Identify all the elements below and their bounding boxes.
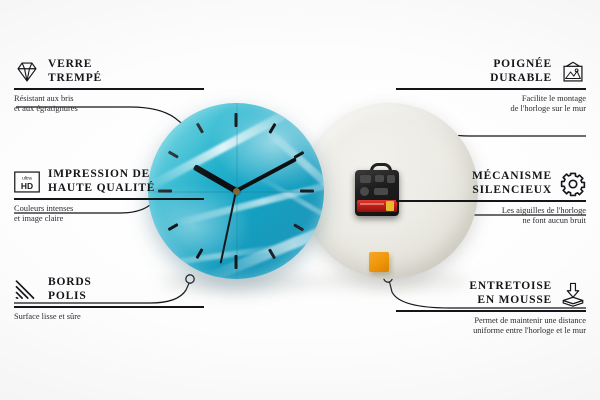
callout-desc-line1: Facilite le montage: [396, 94, 586, 105]
callout-title: DURABLE: [490, 72, 552, 86]
callout-impression-haute-qualite: ultra HD IMPRESSION DE HAUTE QUALITÉ Cou…: [14, 168, 204, 225]
diamond-icon: [14, 59, 40, 85]
callout-rule: [14, 198, 204, 200]
callout-title: MÉCANISME: [472, 170, 552, 184]
ultra-hd-icon: ultra HD: [14, 169, 40, 195]
svg-text:HD: HD: [21, 180, 33, 190]
callout-title: BORDS: [48, 276, 92, 290]
connector-poignee: [410, 113, 586, 136]
callout-desc-line2: uniforme entre l'horloge et le mur: [396, 326, 586, 337]
callout-title: HAUTE QUALITÉ: [48, 182, 155, 196]
callout-title: IMPRESSION DE: [48, 168, 155, 182]
callout-desc-line1: Résistant aux bris: [14, 94, 204, 105]
callout-title: TREMPÉ: [48, 72, 102, 86]
callout-title: POIGNÉE: [490, 58, 552, 72]
callout-desc-line2: et aux égratignures: [14, 104, 204, 115]
anchor-entretoise: [384, 274, 392, 282]
anchor-verre-trempe: [188, 128, 196, 136]
callout-title: ENTRETOISE: [469, 280, 552, 294]
callout-desc-line1: Couleurs intenses: [14, 204, 204, 215]
anchor-poignee: [378, 152, 386, 160]
callout-mecanisme-silencieux: MÉCANISME SILENCIEUX Les aiguilles de l'…: [396, 170, 586, 227]
foam-spacer-icon: [560, 281, 586, 307]
callout-title: SILENCIEUX: [472, 184, 552, 198]
callout-rule: [396, 88, 586, 90]
callout-desc-line2: et image claire: [14, 214, 204, 225]
callout-title: VERRE: [48, 58, 102, 72]
callout-title: POLIS: [48, 290, 92, 304]
product-infographic: VERRE TREMPÉ Résistant aux bris et aux é…: [0, 0, 600, 400]
callout-rule: [14, 88, 204, 90]
callout-desc-line1: Permet de maintenir une distance: [396, 316, 586, 327]
callout-desc-line1: Les aiguilles de l'horloge: [396, 206, 586, 217]
callout-rule: [14, 306, 204, 308]
callout-desc-line2: de l'horloge sur le mur: [396, 104, 586, 115]
callout-bords-polis: BORDS POLIS Surface lisse et sûre: [14, 276, 204, 322]
gear-icon: [560, 171, 586, 197]
callout-rule: [396, 200, 586, 202]
callout-poignee-durable: POIGNÉE DURABLE Facilite le montage de l…: [396, 58, 586, 115]
callout-verre-trempe: VERRE TREMPÉ Résistant aux bris et aux é…: [14, 58, 204, 115]
callout-desc-line2: ne font aucun bruit: [396, 216, 586, 227]
callout-rule: [396, 310, 586, 312]
callout-title: EN MOUSSE: [469, 294, 552, 308]
callout-desc-line1: Surface lisse et sûre: [14, 312, 204, 323]
polished-edge-icon: [14, 277, 40, 303]
callout-entretoise-en-mousse: ENTRETOISE EN MOUSSE Permet de maintenir…: [396, 280, 586, 337]
picture-hanger-icon: [560, 59, 586, 85]
